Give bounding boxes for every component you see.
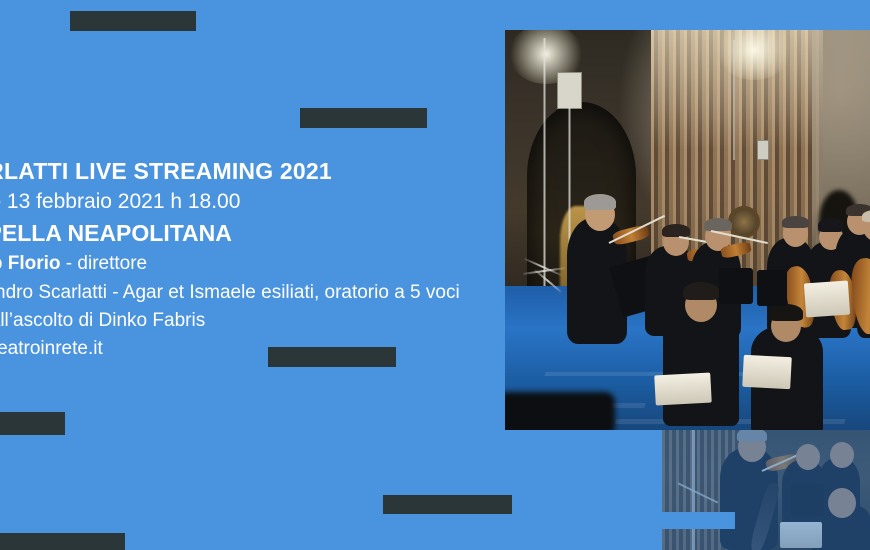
foreground-shadow (505, 392, 615, 430)
poster-text-block: SCARLATTI LIVE STREAMING 2021 sabato 13 … (0, 160, 558, 368)
conductor-name: Florio (8, 253, 61, 274)
programme-line: Alessandro Scarlatti - Agar et Ismaele e… (0, 283, 558, 302)
guide-line: guida all’ascolto di Dinko Fabris (0, 311, 558, 330)
sheet-music-3 (654, 373, 711, 406)
player-right-2-hair (818, 218, 844, 232)
seated-player-center-hair (683, 282, 719, 300)
player-far-right-hair (862, 210, 870, 222)
blue-color-overlay (662, 430, 870, 550)
seated-player-right-hair (769, 304, 803, 321)
ensemble-name: CAPPELLA NEAPOLITANA (0, 222, 558, 245)
music-stand-1 (719, 268, 753, 304)
poster-canvas: SCARLATTI LIVE STREAMING 2021 sabato 13 … (0, 0, 870, 550)
church-scene (505, 30, 870, 430)
speaker-box (757, 140, 769, 160)
conductor-prefix: Antonio (0, 253, 8, 274)
violinist-3-hair (704, 218, 732, 231)
conductor-suffix: - direttore (61, 253, 148, 274)
player-right-1-hair (782, 216, 809, 228)
poster-title: SCARLATTI LIVE STREAMING 2021 (0, 160, 558, 183)
light-stand-pole-3 (733, 40, 735, 160)
secondary-concert-photo (662, 430, 870, 550)
conductor-line: Antonio Florio - direttore (0, 254, 558, 273)
sheet-music-1 (804, 281, 850, 318)
sheet-music-2 (742, 355, 792, 389)
main-concert-photo (505, 30, 870, 430)
bar-left-edge (0, 412, 65, 435)
music-stand-2 (757, 270, 787, 306)
lamp-housing (557, 72, 582, 109)
wall-medallion (728, 206, 760, 238)
bar-lower-mid (383, 495, 512, 514)
blue-overlay-notch (600, 512, 735, 529)
blue-overlay-left (600, 528, 662, 550)
website-line: www.ilteatroinrete.it (0, 339, 558, 358)
bar-bottom-left (0, 533, 125, 550)
poster-date: sabato 13 febbraio 2021 h 18.00 (0, 191, 558, 212)
conductor-hair (584, 194, 616, 210)
seated-player-center (663, 306, 739, 426)
bar-upper-mid (300, 108, 427, 128)
violinist-2-hair (662, 224, 690, 237)
bar-top-left (70, 11, 196, 31)
